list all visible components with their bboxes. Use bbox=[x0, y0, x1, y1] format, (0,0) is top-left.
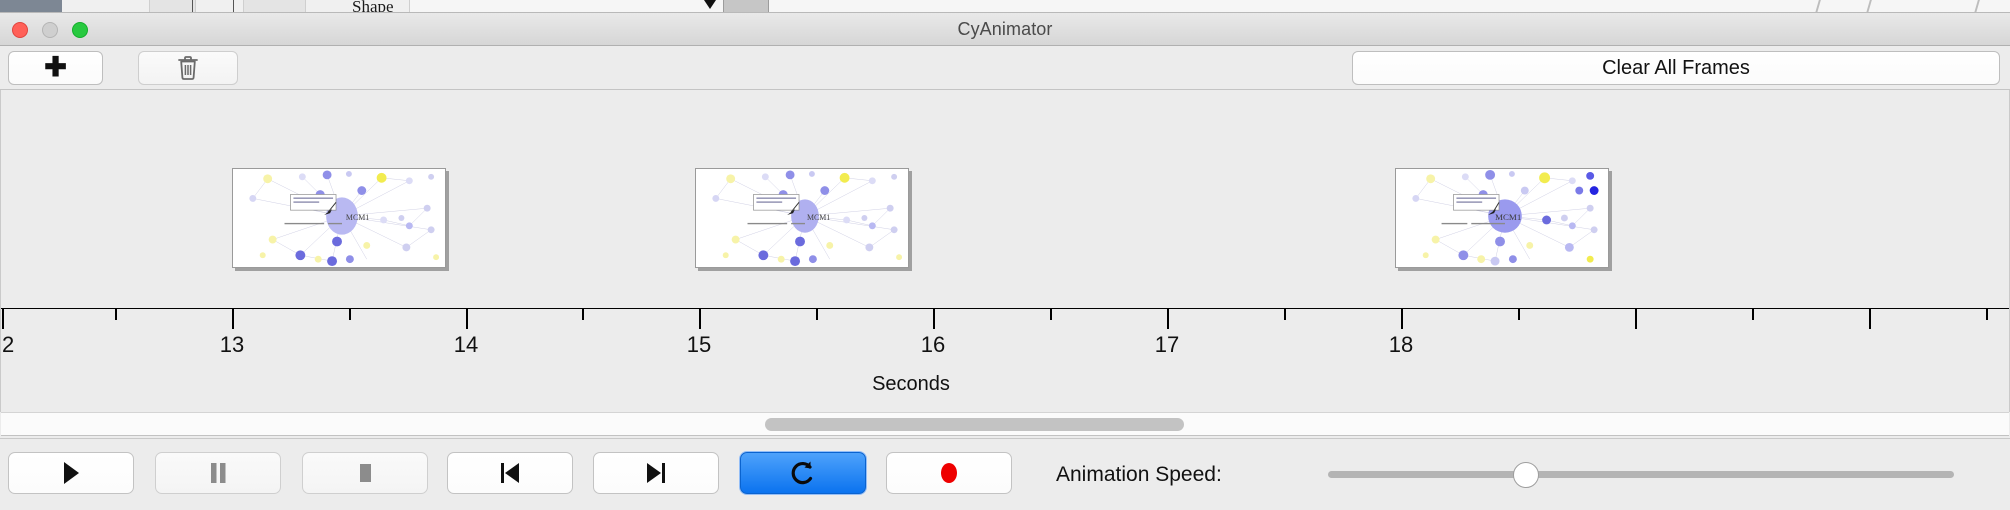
play-button[interactable] bbox=[8, 452, 134, 494]
add-frame-button[interactable]: ✚ bbox=[8, 51, 103, 85]
network-center-label: MCM1 bbox=[1495, 212, 1521, 222]
skip-start-button[interactable] bbox=[447, 452, 573, 494]
timeline-ruler bbox=[1, 308, 2010, 309]
plus-icon: ✚ bbox=[44, 54, 67, 81]
pause-icon bbox=[207, 460, 229, 486]
background-divider bbox=[192, 0, 193, 13]
background-divider bbox=[1974, 0, 1980, 13]
horizontal-scrollbar[interactable] bbox=[1, 412, 2009, 436]
delete-frame-button[interactable] bbox=[138, 51, 238, 85]
ruler-label: 18 bbox=[1389, 332, 1413, 358]
pause-button[interactable] bbox=[155, 452, 281, 494]
animation-speed-slider[interactable] bbox=[1328, 471, 1954, 478]
loop-button[interactable] bbox=[740, 452, 866, 494]
background-toolbar-segment bbox=[244, 0, 306, 13]
background-divider bbox=[1866, 0, 1872, 13]
clear-all-frames-label: Clear All Frames bbox=[1602, 57, 1750, 80]
skip-start-icon bbox=[497, 460, 523, 486]
network-thumbnail-graphic: MCM1 bbox=[696, 169, 908, 267]
play-icon bbox=[60, 460, 82, 486]
ruler-tick-major bbox=[232, 309, 234, 329]
ruler-tick-minor bbox=[1284, 309, 1286, 320]
ruler-tick-minor bbox=[115, 309, 117, 320]
ruler-tick-minor bbox=[1518, 309, 1520, 320]
frame-thumbnail[interactable]: MCM1 bbox=[695, 168, 909, 268]
ruler-tick-major bbox=[2, 309, 4, 329]
ruler-label: 14 bbox=[454, 332, 478, 358]
toolbar: ✚ Clear All Frames bbox=[0, 46, 2010, 90]
network-thumbnail-graphic: MCM1 bbox=[1396, 169, 1608, 267]
frame-thumbnail[interactable]: MCM1 bbox=[232, 168, 446, 268]
clear-all-frames-button[interactable]: Clear All Frames bbox=[1352, 51, 2000, 85]
window-title: CyAnimator bbox=[0, 19, 2010, 40]
ruler-label: 16 bbox=[921, 332, 945, 358]
ruler-tick-major bbox=[1635, 309, 1637, 329]
background-window-strip: Shape bbox=[0, 0, 2010, 13]
title-bar: CyAnimator bbox=[0, 13, 2010, 46]
timeline-panel[interactable]: MCM1 bbox=[0, 90, 2010, 412]
ruler-label: 12 bbox=[0, 332, 14, 358]
stop-icon bbox=[354, 460, 376, 486]
background-divider bbox=[1815, 0, 1821, 13]
playback-controls-bar: Animation Speed: bbox=[0, 438, 2010, 510]
background-divider bbox=[233, 0, 234, 13]
ruler-label: 13 bbox=[220, 332, 244, 358]
ruler-tick-major bbox=[1167, 309, 1169, 329]
scrollbar-thumb[interactable] bbox=[765, 418, 1184, 431]
ruler-tick-minor bbox=[1986, 309, 1988, 320]
ruler-tick-minor bbox=[1752, 309, 1754, 320]
trash-icon bbox=[177, 55, 199, 81]
background-caret-icon bbox=[704, 0, 716, 9]
network-center-label: MCM1 bbox=[346, 213, 369, 222]
cyanimator-window: Shape CyAnimator ✚ Clear All Frames bbox=[0, 0, 2010, 510]
ruler-tick-major bbox=[933, 309, 935, 329]
network-center-label: MCM1 bbox=[807, 213, 830, 222]
loop-icon bbox=[790, 459, 816, 487]
record-icon bbox=[937, 460, 961, 486]
ruler-tick-minor bbox=[1050, 309, 1052, 320]
background-toolbar-segment bbox=[62, 0, 150, 13]
ruler-tick-major bbox=[466, 309, 468, 329]
stop-button[interactable] bbox=[302, 452, 428, 494]
ruler-tick-major bbox=[1869, 309, 1871, 329]
ruler-tick-major bbox=[699, 309, 701, 329]
ruler-label: 15 bbox=[687, 332, 711, 358]
ruler-tick-minor bbox=[349, 309, 351, 320]
background-sidebar-block bbox=[0, 0, 62, 13]
axis-title: Seconds bbox=[872, 373, 950, 396]
ruler-tick-minor bbox=[582, 309, 584, 320]
skip-end-button[interactable] bbox=[593, 452, 719, 494]
background-toolbar-segment bbox=[196, 0, 244, 13]
background-tab-label: Shape bbox=[352, 0, 394, 13]
skip-end-icon bbox=[643, 460, 669, 486]
animation-speed-label: Animation Speed: bbox=[1056, 463, 1222, 487]
background-button bbox=[723, 0, 769, 13]
frame-thumbnail[interactable]: MCM1 bbox=[1395, 168, 1609, 268]
background-toolbar-segment bbox=[150, 0, 196, 13]
ruler-tick-major bbox=[1401, 309, 1403, 329]
record-button[interactable] bbox=[886, 452, 1012, 494]
ruler-label: 17 bbox=[1155, 332, 1179, 358]
ruler-tick-minor bbox=[816, 309, 818, 320]
animation-speed-slider-thumb[interactable] bbox=[1513, 462, 1539, 488]
network-thumbnail-graphic: MCM1 bbox=[233, 169, 445, 267]
